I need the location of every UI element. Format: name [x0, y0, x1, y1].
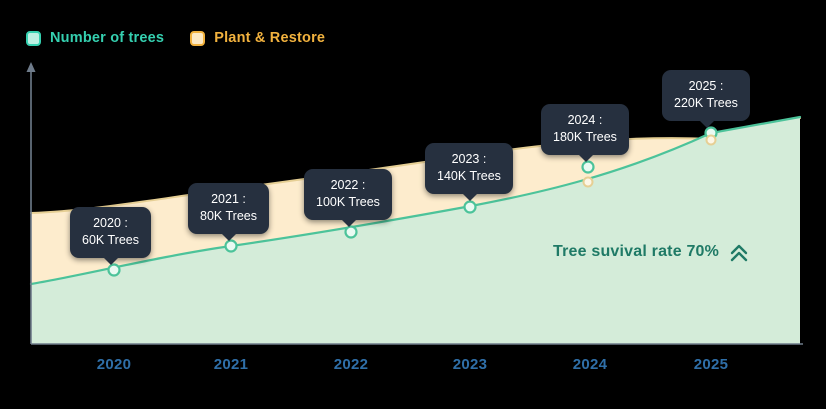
- y-axis-arrow-icon: [27, 62, 36, 72]
- tooltip-2024-value: 180K Trees: [553, 129, 617, 146]
- tooltip-2020[interactable]: 2020 : 60K Trees: [70, 207, 151, 258]
- tooltip-2023[interactable]: 2023 : 140K Trees: [425, 143, 513, 194]
- tooltip-2025-value: 220K Trees: [674, 95, 738, 112]
- chart-page: Number of trees Plant & Restore 2020 :: [0, 0, 826, 409]
- data-point-2024[interactable]: [583, 162, 594, 173]
- tooltip-2025-year: 2025 :: [674, 78, 738, 95]
- tooltip-2024-year: 2024 :: [553, 112, 617, 129]
- data-point-2020[interactable]: [109, 265, 120, 276]
- chart-legend: Number of trees Plant & Restore: [26, 30, 325, 46]
- data-point-plant-2025[interactable]: [707, 136, 716, 145]
- double-chevron-up-icon: [729, 241, 749, 263]
- tooltip-2022[interactable]: 2022 : 100K Trees: [304, 169, 392, 220]
- tooltip-2025[interactable]: 2025 : 220K Trees: [662, 70, 750, 121]
- tooltip-2023-year: 2023 :: [437, 151, 501, 168]
- legend-item-number-of-trees[interactable]: Number of trees: [26, 30, 164, 46]
- data-point-plant-2024[interactable]: [584, 178, 593, 187]
- tooltip-2021[interactable]: 2021 : 80K Trees: [188, 183, 269, 234]
- tooltip-2021-value: 80K Trees: [200, 208, 257, 225]
- tooltip-2021-year: 2021 :: [200, 191, 257, 208]
- tooltip-2023-value: 140K Trees: [437, 168, 501, 185]
- survival-rate-label: Tree suvival rate 70%: [553, 243, 719, 261]
- data-point-2022[interactable]: [346, 227, 357, 238]
- legend-swatch-icon: [190, 31, 205, 46]
- legend-swatch-icon: [26, 31, 41, 46]
- data-point-2021[interactable]: [226, 241, 237, 252]
- tooltip-2024[interactable]: 2024 : 180K Trees: [541, 104, 629, 155]
- data-point-2023[interactable]: [465, 202, 476, 213]
- tooltip-2020-value: 60K Trees: [82, 232, 139, 249]
- legend-item-plant-and-restore[interactable]: Plant & Restore: [190, 30, 325, 46]
- legend-label-plant-and-restore: Plant & Restore: [214, 30, 325, 46]
- tooltip-2022-year: 2022 :: [316, 177, 380, 194]
- legend-label-number-of-trees: Number of trees: [50, 30, 164, 46]
- chart-plot: [0, 0, 826, 409]
- tooltip-2020-year: 2020 :: [82, 215, 139, 232]
- tooltip-2022-value: 100K Trees: [316, 194, 380, 211]
- survival-rate-annotation: Tree suvival rate 70%: [553, 241, 749, 263]
